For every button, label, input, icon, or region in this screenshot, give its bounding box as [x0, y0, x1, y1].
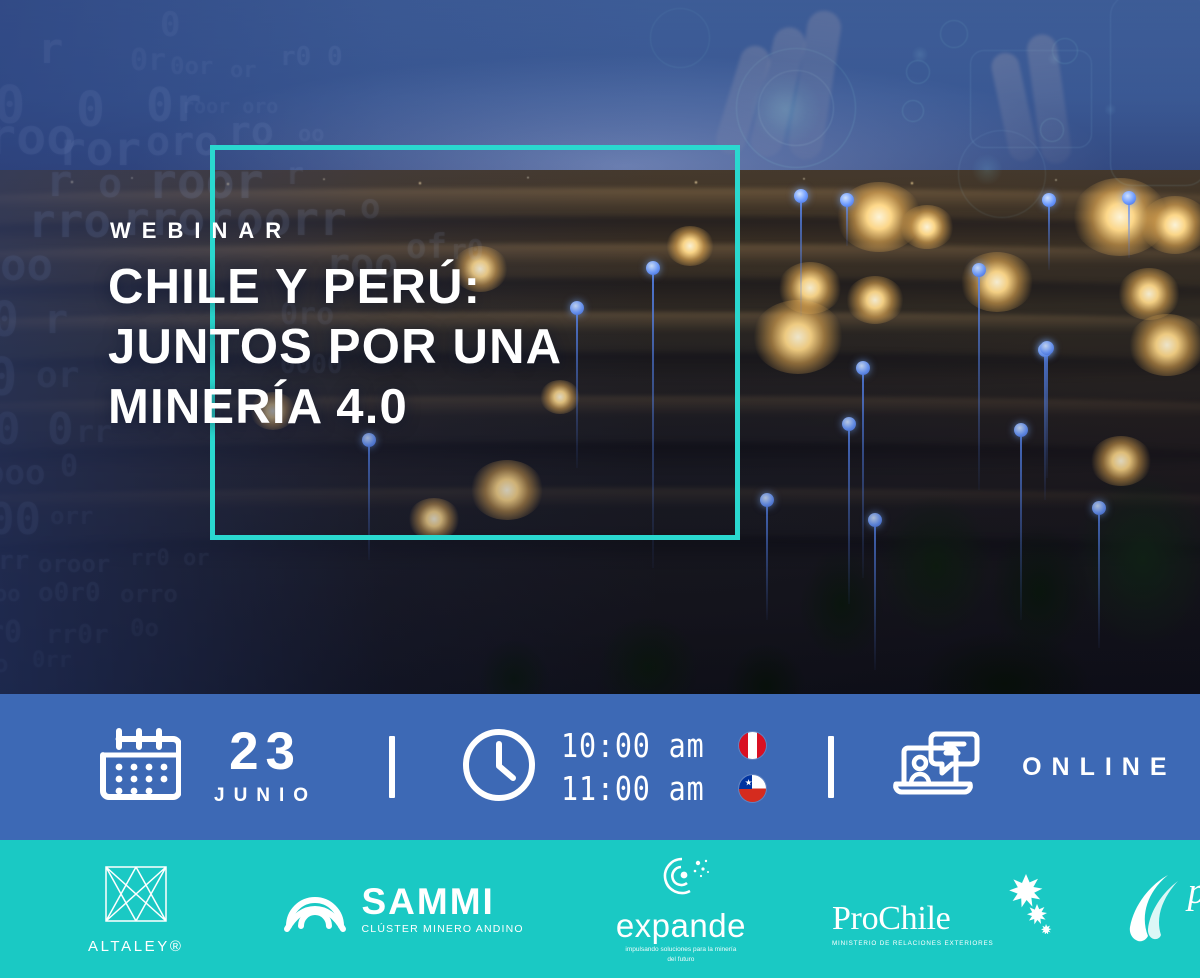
online-label: ONLINE: [1022, 753, 1176, 782]
promperu-wordmark-line1: prom: [1188, 875, 1200, 909]
altaley-wordmark: ALTALEY®: [88, 938, 184, 955]
chile-flag-icon: [739, 775, 766, 802]
sammi-mark-icon: [282, 879, 348, 940]
date-group: 23 JUNIO: [95, 725, 317, 810]
webinar-poster: r 0 r0 0 0r 0or 0 0 0r or roor oro roo r…: [0, 0, 1200, 978]
prochile-tagline: MINISTERIO DE RELACIONES EXTERIORES: [832, 940, 994, 947]
sammi-text: SAMMI CLÚSTER MINERO ANDINO: [362, 883, 524, 935]
prochile-text: ProChile MINISTERIO DE RELACIONES EXTERI…: [832, 902, 994, 947]
date-month: JUNIO: [214, 785, 317, 807]
title-line-3: MINERÍA 4.0: [108, 378, 562, 438]
promperu-text: prom perú: [1188, 875, 1200, 943]
time-value-peru: 10:00 am: [561, 726, 714, 765]
event-details-bar: 23 JUNIO 10:00 am 11:00 am: [0, 694, 1200, 840]
title-line-2: JUNTOS POR UNA: [108, 318, 562, 378]
clock-icon: [461, 727, 537, 808]
divider: [389, 736, 395, 798]
calendar-icon: [95, 725, 181, 810]
logo-prochile[interactable]: ProChile MINISTERIO DE RELACIONES EXTERI…: [832, 872, 1054, 947]
sammi-tagline: CLÚSTER MINERO ANDINO: [362, 923, 524, 935]
title-line-1: CHILE Y PERÚ:: [108, 258, 562, 318]
logo-sammi[interactable]: SAMMI CLÚSTER MINERO ANDINO: [282, 879, 524, 940]
time-row: 11:00 am: [561, 769, 766, 808]
sammi-wordmark: SAMMI: [362, 883, 524, 920]
expande-tagline: impulsando soluciones para la minería de…: [621, 945, 741, 964]
time-group: 10:00 am 11:00 am: [461, 726, 766, 808]
online-webinar-icon: [890, 726, 982, 809]
online-group: ONLINE: [890, 726, 1176, 809]
prochile-wordmark: ProChile: [832, 902, 994, 936]
hero-image: r 0 r0 0 0r 0or 0 0 0r or roor oro roo r…: [0, 0, 1200, 694]
hero-text-block: WEBINAR CHILE Y PERÚ: JUNTOS POR UNA MIN…: [108, 218, 562, 437]
date-text: 23 JUNIO: [207, 727, 317, 806]
logo-expande[interactable]: expande impulsando soluciones para la mi…: [616, 854, 746, 964]
prochile-stars-icon: [996, 872, 1054, 939]
time-row: 10:00 am: [561, 726, 766, 765]
divider: [828, 736, 834, 798]
promperu-swoosh-icon: [1128, 871, 1184, 948]
expande-mark-icon: [650, 854, 712, 903]
time-value-chile: 11:00 am: [561, 769, 714, 808]
date-day: 23: [214, 727, 317, 777]
webinar-kicker: WEBINAR: [110, 218, 562, 244]
expande-wordmark: expande: [616, 909, 746, 942]
logo-promperu[interactable]: prom perú: [1128, 871, 1200, 948]
altaley-mark-icon: [102, 863, 170, 930]
sponsor-logo-bar: ALTALEY® SAMMI CLÚSTER MINERO ANDINO: [0, 840, 1200, 978]
time-text: 10:00 am 11:00 am: [561, 726, 766, 808]
page-title: CHILE Y PERÚ: JUNTOS POR UNA MINERÍA 4.0: [108, 258, 562, 437]
peru-flag-icon: [739, 732, 766, 759]
logo-altaley[interactable]: ALTALEY®: [88, 863, 184, 955]
